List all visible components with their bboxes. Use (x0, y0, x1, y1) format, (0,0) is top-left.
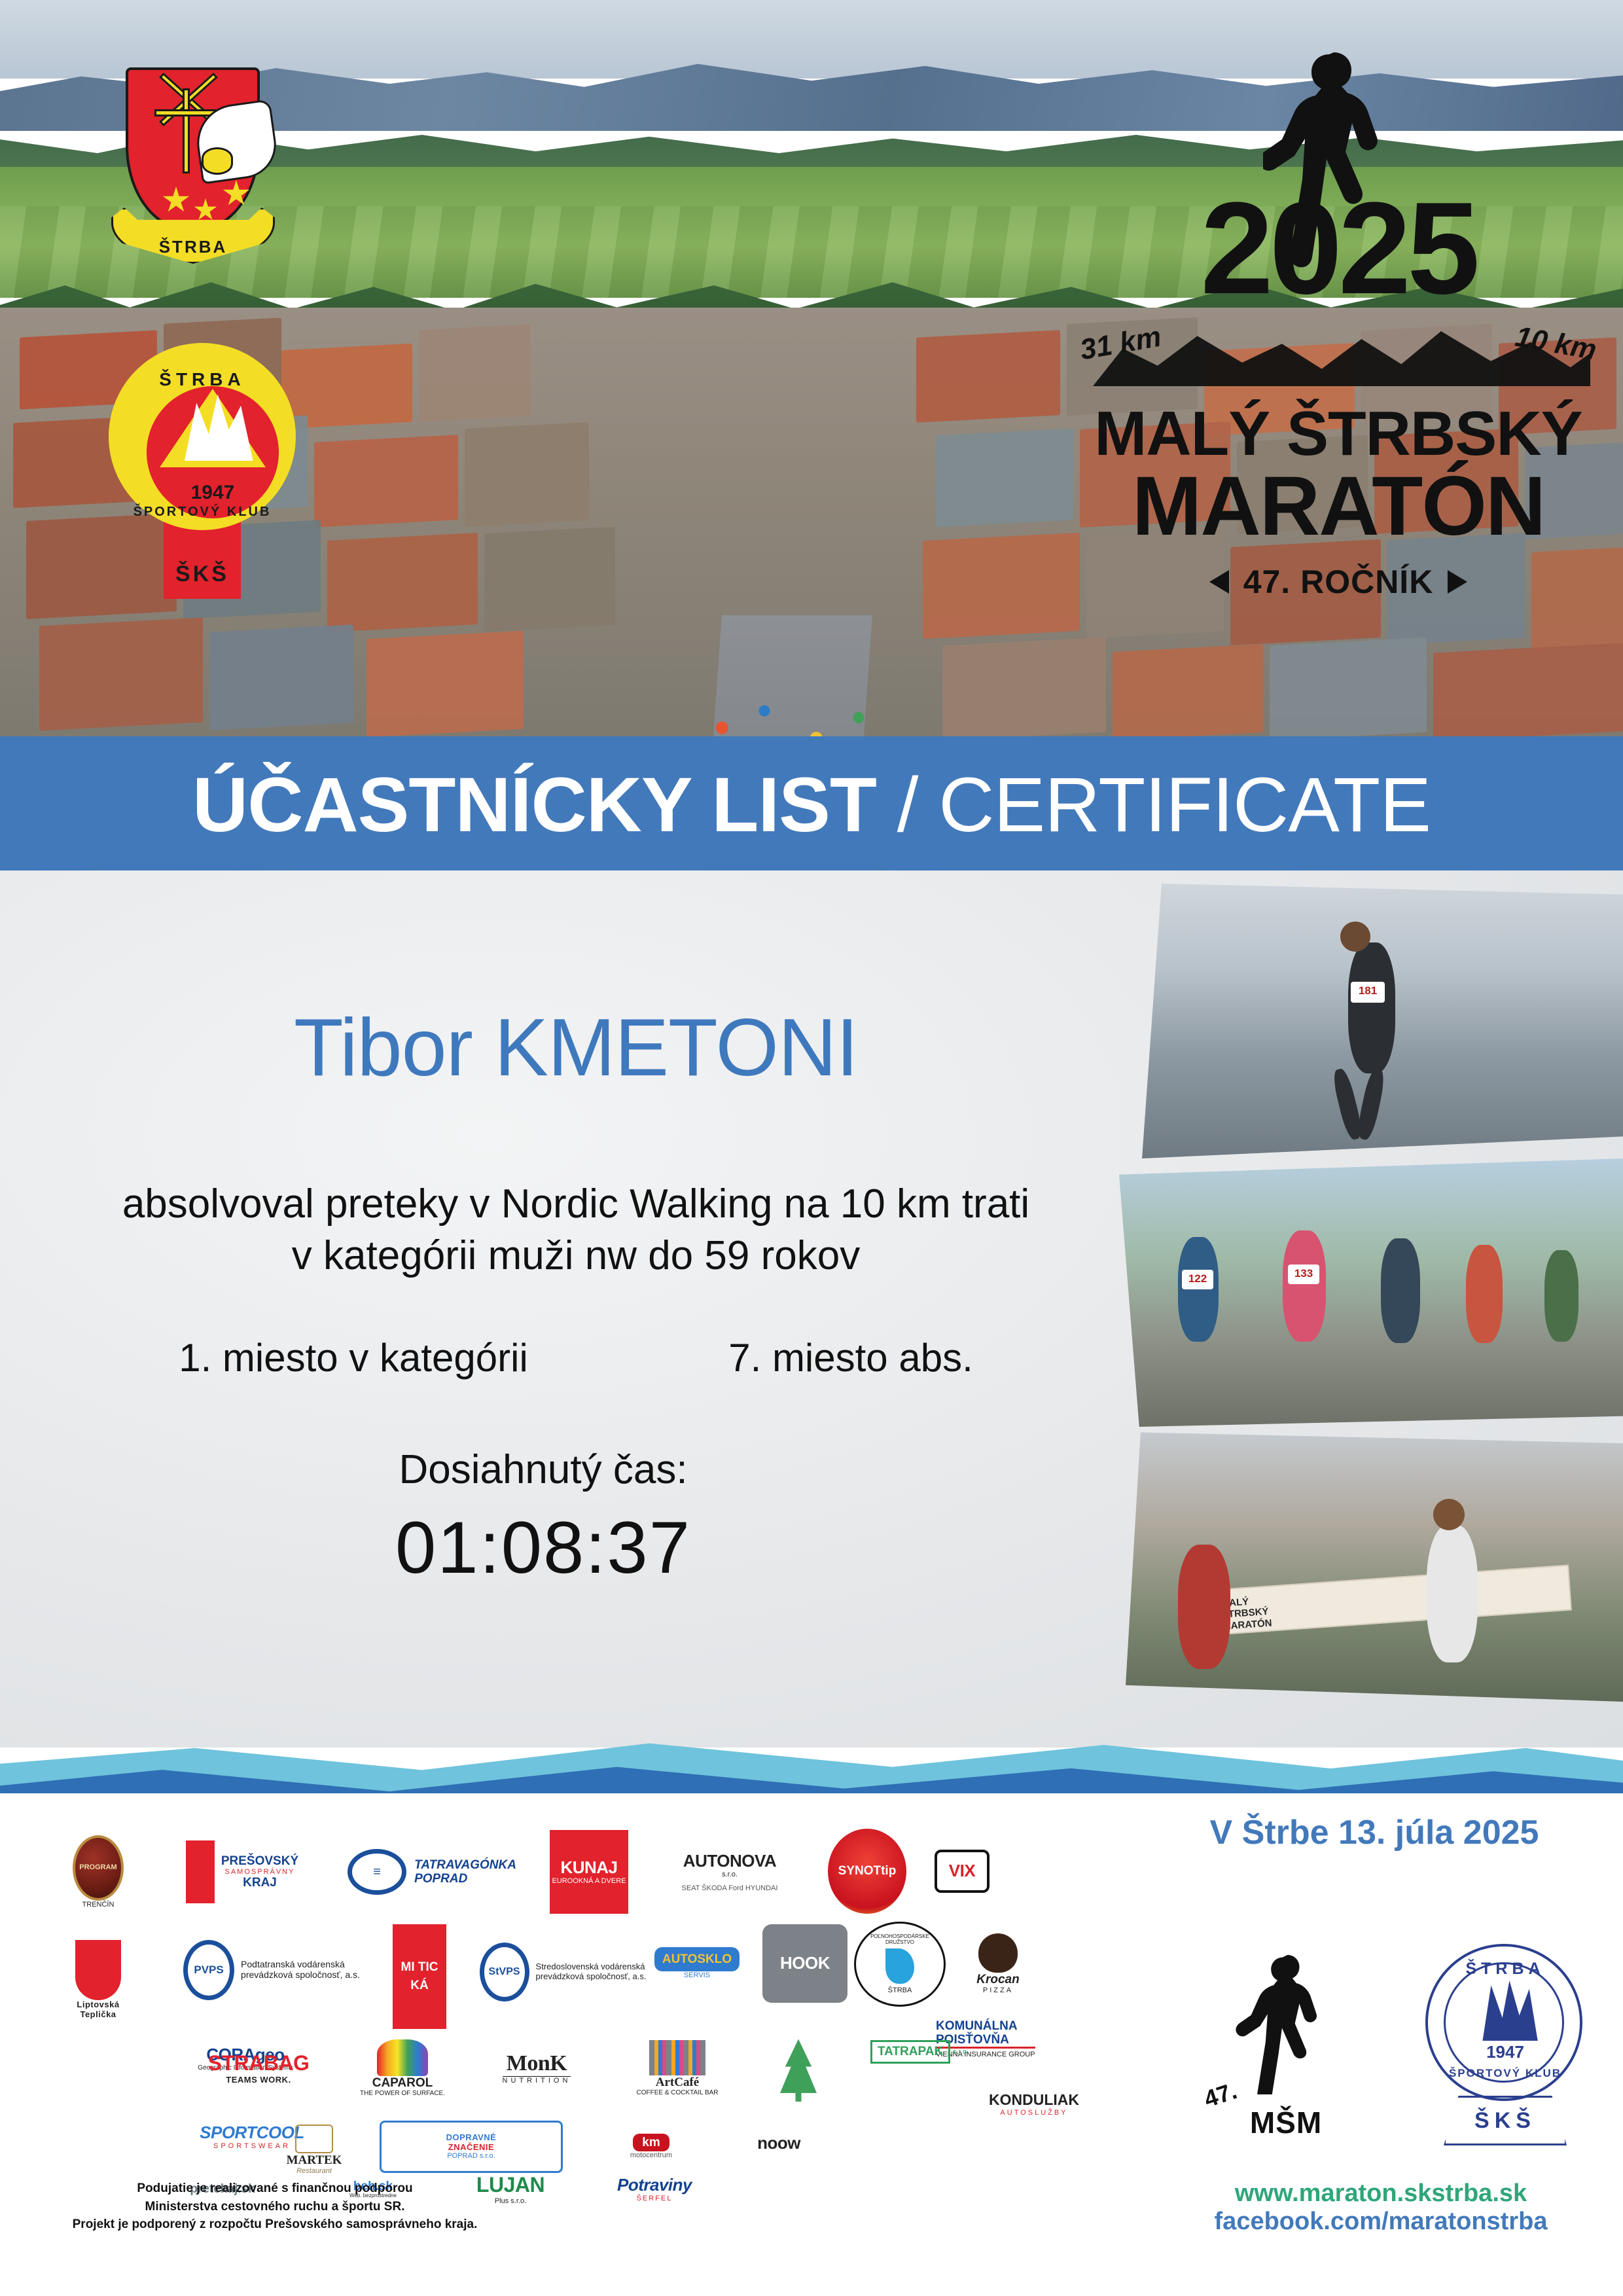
sponsor-line1: MonK (507, 2051, 567, 2076)
cross-vertical-icon (183, 88, 190, 173)
sponsor-line2: s.r.o. (953, 2048, 969, 2056)
sponsor-autonova: AUTONOVA s.r.o. SEAT ŠKODA Ford HYUNDAI (641, 1826, 818, 1918)
sponsor-line1: noow (757, 2134, 800, 2153)
finish-time: 01:08:37 (79, 1505, 1008, 1590)
club-year: 1947 (191, 482, 235, 504)
sponsor-line1: STRABAG (208, 2052, 310, 2075)
sponsor-line3: SEAT ŠKODA Ford HYUNDAI (682, 1884, 778, 1892)
sponsor-line3: prevádzková spoločnosť, a.s. (536, 1972, 647, 1982)
sponsor-strabag: STRABAG TEAMS WORK. (183, 2032, 334, 2104)
sponsor-line1: TATRAPAK (870, 2040, 950, 2063)
distance-row: 31 km 10 km (1080, 327, 1597, 360)
sks-stamp: ŠTRBA 1947 ŠPORTOVÝ KLUB ŠKŠ (1407, 1931, 1603, 2147)
sponsor-monk: MonK NUTRITION (471, 2032, 602, 2104)
sponsor-program-trencin: PROGRAM TRENČÍN (46, 1826, 151, 1918)
sponsor-line2: ŠERFEL (637, 2195, 673, 2202)
club-bottom-label: ŠPORTOVÝ KLUB (109, 505, 296, 520)
sponsor-line1: PROGRAM (79, 1863, 116, 1872)
sponsor-line2: motocentrum (630, 2151, 672, 2159)
hero-photo: ŠTART ŠTRBA ŠKŠ (0, 0, 1623, 736)
club-banner-text: ŠKŠ (175, 562, 229, 587)
sponsor-konduliak: KONDULIAK AUTOSLUŽBY (959, 2072, 1109, 2137)
sponsor-mark: ≡ (348, 1849, 406, 1895)
race-title-line2: MARATÓN (1067, 465, 1610, 548)
sponsor-line1: VIX (935, 1850, 990, 1892)
finish-banner: MALÝ ŠTRBSKÝ MARATÓN (1203, 1565, 1572, 1636)
sponsor-line1: MARTEK (287, 2153, 342, 2167)
sponsor-vix: VIX (916, 1829, 1008, 1914)
sponsor-line1: POĽNOHOSPODÁRSKE DRUŽSTVO (856, 1934, 944, 1946)
runner-badge-icon (1224, 1931, 1348, 2094)
sponsor-line2: ZNAČENIE (448, 2143, 494, 2153)
sponsor-line2: COFFEE & COCKTAIL BAR (636, 2089, 718, 2096)
distance-10km: 10 km (1513, 321, 1599, 367)
sponsor-kunaj: KUNAJ EUROOKNÁ A DVERE (550, 1830, 628, 1914)
sponsor-line1: HOOK (780, 1954, 830, 1973)
sks-strba-club-emblem: ŠKŠ ŠTRBA 1947 ŠPORTOVÝ KLUB (98, 327, 308, 602)
sponsor-presovsky-kraj: PREŠOVSKÝ SAMOSPRÁVNY KRAJ (160, 1833, 324, 1911)
banner-title-bold: ÚČASTNÍCKY LIST (192, 762, 876, 848)
sponsor-artcafe: ArtCafé COFFEE & COCKTAIL BAR (615, 2026, 740, 2111)
triangle-left-icon (1209, 570, 1229, 594)
participant-name: Tibor KMETONI (79, 1001, 1073, 1094)
sponsor-mark: StVPS (480, 1943, 529, 2001)
time-label: Dosiahnutý čas: (79, 1446, 1008, 1493)
race-title-lockup: 2025 31 km 10 km MALÝ ŠTRBSKÝ MARATÓN 47… (1067, 46, 1610, 609)
sponsor-line1: KUNAJ (560, 1858, 617, 1877)
sponsor-line2: POPRAD (414, 1872, 516, 1886)
star-icon (162, 187, 190, 214)
race-title-line1: MALÝ ŠTRBSKÝ (1067, 403, 1610, 465)
club-inner-disc: 1947 (147, 386, 279, 518)
sponsor-line3: KRAJ (221, 1876, 298, 1890)
certificate-page: ŠTART ŠTRBA ŠKŠ (0, 0, 1623, 2296)
sponsor-grid: PROGRAM TRENČÍN PREŠOVSKÝ SAMOSPRÁVNY KR… (46, 1806, 1119, 2173)
sponsor-line3: prevádzková spoločnosť, a.s. (241, 1970, 360, 1981)
place-category: 1. miesto v kategórii (179, 1335, 528, 1380)
banner-title-separator: / (876, 762, 938, 848)
placement-row: 1. miesto v kategórii 7. miesto abs. (79, 1335, 1073, 1380)
sponsor-line1: KONDULIAK (989, 2092, 1079, 2109)
elephant-icon (377, 2039, 428, 2076)
sponsor-line2: THE POWER OF SURFACE. (360, 2090, 445, 2097)
race-year: 2025 (1067, 183, 1610, 314)
star-icon (194, 198, 217, 222)
sponsor-line1: DOPRAVNÉ (446, 2133, 497, 2143)
arms-ribbon-text: ŠTRBA (159, 237, 228, 257)
stamp-bottom-label: ŠPORTOVÝ KLUB (1407, 2067, 1603, 2080)
sponsor-line2: AUTOSLUŽBY (1000, 2109, 1067, 2117)
bib-number: 133 (1288, 1265, 1319, 1284)
sponsor-liptovska-teplicka: Liptovská Teplička (46, 1928, 151, 2032)
sponsor-line2: ŠTRBA (888, 1986, 912, 1994)
funding-fineprint: Podujatie je realizované s finančnou pod… (39, 2179, 510, 2234)
fineprint-line2: Ministerstva cestovného ruchu a športu S… (39, 2198, 510, 2216)
sponsor-line2: NUTRITION (503, 2076, 571, 2085)
sponsor-line1: MI TIC KÁ (393, 1958, 446, 1996)
sponsor-line3: POPRAD s.r.o. (447, 2152, 495, 2160)
sponsor-line2: Stredoslovenská vodárenská (536, 1962, 647, 1972)
sponsor-synottip: SYNOTtip (828, 1829, 906, 1914)
sponsor-line2: EUROOKNÁ A DVERE (552, 1877, 626, 1885)
banner-title-regular: CERTIFICATE (938, 762, 1431, 848)
sponsor-line2: Podtatranská vodárenská (241, 1960, 360, 1970)
sponsor-line2: SERVIS (684, 1971, 710, 1979)
website-link[interactable]: www.maraton.skstrba.sk (1139, 2179, 1623, 2208)
sponsor-mark (186, 1840, 215, 1903)
sponsor-ps-urbar-strba: PS URBÁR ŠTRBA (749, 2022, 847, 2114)
sponsor-line2: PIZZA (983, 1986, 1013, 1994)
cuff-icon (202, 147, 233, 175)
sponsor-caparol: CAPAROL THE POWER OF SURFACE. (344, 2026, 461, 2111)
sponsor-miticka: MI TIC KÁ (393, 1924, 446, 2029)
sponsor-mark: PROGRAM (73, 1835, 124, 1901)
msm-acronym: MŠM (1204, 2105, 1368, 2140)
sponsor-line1: AUTOSKLO (654, 1947, 740, 1971)
sponsor-pd-strba: POĽNOHOSPODÁRSKE DRUŽSTVO ŠTRBA (854, 1922, 946, 2007)
certificate-description: absolvoval preteky v Nordic Walking na 1… (79, 1178, 1073, 1282)
facebook-link[interactable]: facebook.com/maratonstrba (1139, 2208, 1623, 2236)
sponsor-line1: km (633, 2134, 669, 2151)
shield-shape (126, 67, 260, 231)
description-line2: v kategórii muži nw do 59 rokov (79, 1230, 1073, 1282)
distance-31km: 31 km (1078, 321, 1164, 367)
sponsor-potraviny-serfel: Potraviny ŠERFEL (582, 2163, 726, 2215)
fineprint-line3: Projekt je podporený z rozpočtu Prešovsk… (39, 2215, 510, 2234)
sponsor-tatravagonka: ≡ TATRAVAGÓNKA POPRAD (334, 1833, 530, 1911)
sponsor-line1: CAPAROL (372, 2076, 433, 2090)
description-line1: absolvoval preteky v Nordic Walking na 1… (79, 1178, 1073, 1230)
fineprint-line1: Podujatie je realizované s finančnou pod… (39, 2179, 510, 2198)
sponsor-krocan-pizza: Krocan PIZZA (952, 1922, 1044, 2007)
sponsor-line2: TRENČÍN (82, 1901, 115, 1909)
triangle-right-icon (1448, 570, 1467, 594)
sponsor-mark: PVPS (183, 1940, 234, 2000)
sponsor-line1: Liptovská (77, 2000, 119, 2010)
sponsor-line1: Krocan (976, 1973, 1019, 1986)
event-date: V Štrbe 13. júla 2025 (1139, 1813, 1610, 1852)
footer-right-column: V Štrbe 13. júla 2025 (1139, 1813, 1610, 1852)
sponsor-line1: PREŠOVSKÝ (221, 1854, 298, 1868)
stamp-top-label: ŠTRBA (1407, 1960, 1603, 1979)
sponsor-line1: SYNOTtip (838, 1864, 897, 1878)
sponsor-mark (649, 2040, 705, 2075)
sponsor-pvps: PVPS Podtatranská vodárenská prevádzková… (160, 1931, 383, 2009)
collage-photo-race-pack: 122 133 (1119, 1158, 1623, 1427)
place-absolute: 7. miesto abs. (728, 1335, 973, 1380)
race-edition: 47. ROČNÍK (1243, 563, 1434, 601)
sponsor-hook: HOOK (762, 1924, 847, 2003)
stamp-base-label: ŠKŠ (1444, 2096, 1567, 2145)
tree-icon (780, 2039, 817, 2102)
sponsor-line1: Potraviny (617, 2176, 692, 2195)
collage-photo-finish-line: MALÝ ŠTRBSKÝ MARATÓN (1126, 1427, 1623, 1702)
bib-number: 181 (1351, 982, 1385, 1003)
photo-collage: 181 122 133 MALÝ ŠTRBSKÝ MARATÓN (1113, 884, 1623, 1734)
sponsor-mark (885, 1948, 914, 1984)
msm-badge: 47. MŠM (1204, 1931, 1368, 2147)
stamp-year: 1947 (1407, 2042, 1603, 2062)
banner-title: ÚČASTNÍCKY LIST / CERTIFICATE (192, 761, 1431, 850)
race-edition-row: 47. ROČNÍK (1067, 563, 1610, 601)
turkey-icon (978, 1933, 1018, 1973)
cutlery-icon (295, 2125, 333, 2153)
sponsor-noow: noow (726, 2114, 831, 2173)
sponsor-line1: AUTONOVA (683, 1852, 776, 1871)
collage-photo-finisher: 181 (1132, 884, 1623, 1158)
mountain-peaks-icon (162, 390, 263, 461)
star-icon (223, 180, 250, 207)
sponsor-line2: s.r.o. (722, 1871, 738, 1878)
sponsor-mark (75, 1940, 121, 2000)
sponsor-line1: ArtCafé (656, 2075, 699, 2089)
bib-number: 122 (1182, 1270, 1213, 1289)
sponsor-line2: SAMOSPRÁVNY (221, 1868, 298, 1876)
sponsor-line2: TEAMS WORK. (226, 2075, 291, 2085)
sponsor-line1: TATRAVAGÓNKA (414, 1858, 516, 1872)
runner-crowd (694, 694, 929, 736)
sponsor-line2: Teplička (80, 2010, 116, 2020)
sponsor-autosklo: AUTOSKLO SERVIS (635, 1924, 759, 2003)
club-ring: ŠTRBA 1947 ŠPORTOVÝ KLUB (109, 343, 296, 530)
strba-coat-of-arms: ŠTRBA (111, 62, 275, 278)
contact-links: www.maraton.skstrba.sk facebook.com/mara… (1139, 2179, 1623, 2236)
